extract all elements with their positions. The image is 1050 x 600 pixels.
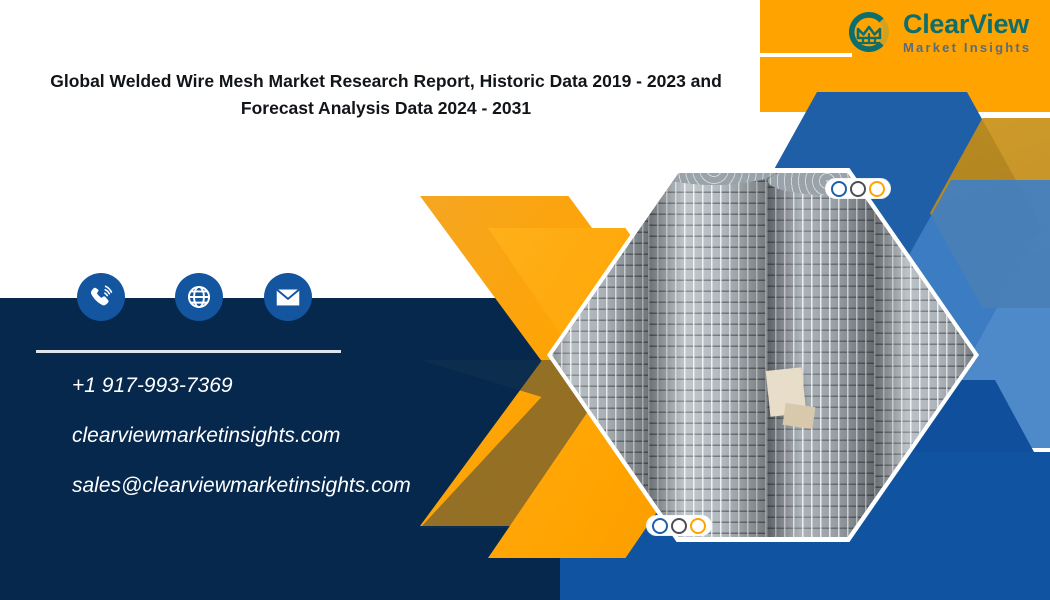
page-title: Global Welded Wire Mesh Market Research … — [26, 68, 746, 122]
contact-divider-rule — [36, 350, 341, 353]
phone-icon[interactable] — [77, 273, 125, 321]
brand-tagline: Market Insights — [903, 41, 1031, 54]
badge-dot — [869, 181, 885, 197]
badge-dot — [831, 181, 847, 197]
contact-phone[interactable]: +1 917-993-7369 — [72, 374, 542, 398]
badge-dot — [671, 518, 687, 534]
brand-logo[interactable]: ClearView Market Insights — [843, 6, 1031, 58]
contact-email[interactable]: sales@clearviewmarketinsights.com — [72, 474, 542, 498]
badge-dot — [850, 181, 866, 197]
clearview-circle-m-logo-icon — [843, 6, 895, 58]
badge-dot — [652, 518, 668, 534]
brand-name: ClearView — [903, 11, 1031, 38]
envelope-icon[interactable] — [264, 273, 312, 321]
contact-details: +1 917-993-7369 clearviewmarketinsights.… — [72, 374, 542, 524]
badge-dot — [690, 518, 706, 534]
logo-underline-rule — [760, 53, 852, 57]
badge-dots-top — [826, 179, 890, 198]
report-cover: ClearView Market Insights Global Welded … — [0, 0, 1050, 600]
contact-website[interactable]: clearviewmarketinsights.com — [72, 424, 542, 448]
badge-dots-bottom — [647, 516, 711, 535]
globe-icon[interactable] — [175, 273, 223, 321]
